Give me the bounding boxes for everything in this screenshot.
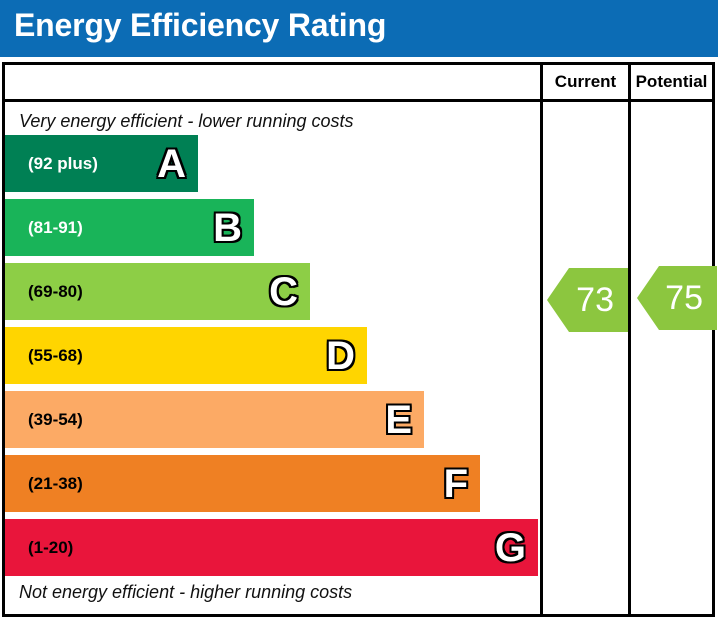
caption-bottom: Not energy efficient - higher running co… bbox=[19, 582, 352, 603]
column-header-current: Current bbox=[543, 65, 628, 99]
band-row-c: (69-80)C bbox=[5, 263, 310, 320]
potential-column-divider bbox=[628, 65, 631, 614]
header-divider bbox=[5, 99, 712, 102]
current-rating-value: 73 bbox=[576, 283, 628, 317]
band-row-g: (1-20)G bbox=[5, 519, 538, 576]
band-row-e: (39-54)E bbox=[5, 391, 424, 448]
band-letter-e: E bbox=[385, 400, 412, 440]
caption-top: Very energy efficient - lower running co… bbox=[19, 111, 354, 132]
title-bar: Energy Efficiency Rating bbox=[0, 0, 718, 57]
band-letter-g: G bbox=[495, 528, 526, 568]
band-range-d: (55-68) bbox=[28, 346, 83, 366]
band-range-g: (1-20) bbox=[28, 538, 73, 558]
band-letter-a: A bbox=[157, 144, 186, 184]
potential-rating-arrow: 75 bbox=[637, 266, 717, 330]
band-row-a: (92 plus)A bbox=[5, 135, 198, 192]
current-rating-arrow: 73 bbox=[547, 268, 628, 332]
band-range-e: (39-54) bbox=[28, 410, 83, 430]
band-row-f: (21-38)F bbox=[5, 455, 480, 512]
band-range-a: (92 plus) bbox=[28, 154, 98, 174]
band-range-b: (81-91) bbox=[28, 218, 83, 238]
potential-rating-value: 75 bbox=[665, 281, 717, 315]
column-header-potential: Potential bbox=[631, 65, 712, 99]
band-letter-b: B bbox=[213, 208, 242, 248]
band-letter-c: C bbox=[269, 272, 298, 312]
energy-efficiency-rating-chart: Energy Efficiency Rating Current Potenti… bbox=[0, 0, 718, 619]
band-list: (92 plus)A(81-91)B(69-80)C(55-68)D(39-54… bbox=[5, 135, 540, 580]
band-row-d: (55-68)D bbox=[5, 327, 367, 384]
band-row-b: (81-91)B bbox=[5, 199, 254, 256]
band-letter-f: F bbox=[444, 464, 468, 504]
band-range-c: (69-80) bbox=[28, 282, 83, 302]
chart-frame: Current Potential Very energy efficient … bbox=[2, 62, 715, 617]
band-range-f: (21-38) bbox=[28, 474, 83, 494]
page-title: Energy Efficiency Rating bbox=[14, 7, 386, 44]
current-column-divider bbox=[540, 65, 543, 614]
band-letter-d: D bbox=[326, 336, 355, 376]
